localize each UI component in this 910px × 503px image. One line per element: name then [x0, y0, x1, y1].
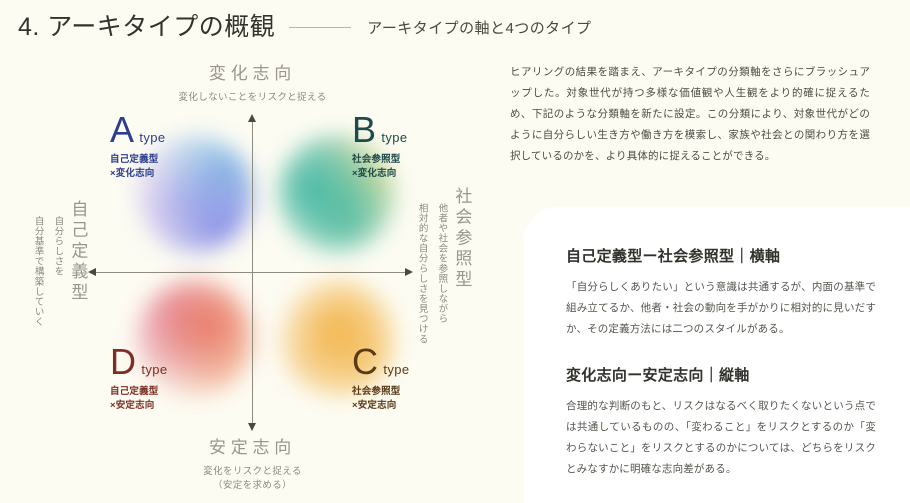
- axis-sublabel-bottom-line2: （安定を求める）: [0, 479, 505, 493]
- axis-explanation-card: 自己定義型ー社会参照型｜横軸 「自分らしくありたい」という意識は共通するが、内面…: [524, 207, 910, 503]
- quadrant-label-a: A type 自己定義型 ×変化志向: [110, 112, 166, 181]
- quadrant-b-desc-line1: 社会参照型: [352, 153, 408, 167]
- quadrant-d-letter-row: D type: [110, 344, 168, 380]
- axis-sublabel-left-line2: 自分基準で構築していく: [30, 216, 46, 368]
- quadrant-b-letter-row: B type: [352, 112, 408, 148]
- axis-sublabel-left-line1: 自分らしさを: [50, 216, 66, 368]
- archetype-matrix: 変化志向 変化しないことをリスクと捉える 安定志向 変化をリスクと捉える （安定…: [0, 55, 505, 495]
- quadrant-label-d: D type 自己定義型 ×安定志向: [110, 344, 168, 413]
- slide-header: 4. アーキタイプの概観 アーキタイプの軸と4つのタイプ: [18, 14, 592, 42]
- quadrant-d-desc-line2: ×安定志向: [110, 399, 168, 413]
- quadrant-c-desc-line1: 社会参照型: [352, 385, 410, 399]
- page-subtitle: アーキタイプの軸と4つのタイプ: [367, 17, 591, 38]
- quadrant-d-desc-line1: 自己定義型: [110, 385, 168, 399]
- quadrant-c-type: type: [383, 362, 409, 377]
- axis-caption-right: 社会参照型 他者や社会を参照しながら 相対的な自分らしさを見つける: [414, 187, 470, 355]
- card-section-vertical-axis: 変化志向ー安定志向｜縦軸 合理的な判断のもと、リスクはなるべく取りたくないという…: [566, 364, 876, 480]
- intro-paragraph: ヒアリングの結果を踏まえ、アーキタイプの分類軸をさらにブラッシュアップした。対象…: [510, 62, 870, 167]
- quadrant-b-letter: B: [352, 112, 376, 148]
- card-heading-vertical-axis: 変化志向ー安定志向｜縦軸: [566, 364, 876, 385]
- quadrant-d-letter: D: [110, 344, 136, 380]
- quadrant-d-desc: 自己定義型 ×安定志向: [110, 385, 168, 413]
- slide-root: 4. アーキタイプの概観 アーキタイプの軸と4つのタイプ 変化志向 変化しないこ…: [0, 0, 910, 503]
- axis-sublabel-bottom-line1: 変化をリスクと捉える: [0, 465, 505, 479]
- quadrant-label-b: B type 社会参照型 ×変化志向: [352, 112, 408, 181]
- quadrant-a-desc-line2: ×変化志向: [110, 167, 166, 181]
- card-section-horizontal-axis: 自己定義型ー社会参照型｜横軸 「自分らしくありたい」という意識は共通するが、内面…: [566, 245, 876, 340]
- card-body-horizontal-axis: 「自分らしくありたい」という意識は共通するが、内面の基準で組み立てるか、他者・社…: [566, 277, 876, 340]
- horizontal-axis-line: [95, 272, 411, 273]
- axis-caption-top: 変化志向 変化しないことをリスクと捉える: [0, 59, 505, 105]
- quadrant-b-desc: 社会参照型 ×変化志向: [352, 153, 408, 181]
- axis-label-right: 社会参照型: [453, 187, 470, 291]
- arrow-down-icon: [248, 423, 256, 431]
- quadrant-a-type: type: [139, 130, 165, 145]
- axis-label-left: 自己定義型: [69, 200, 86, 304]
- page-title: 4. アーキタイプの概観: [18, 14, 275, 42]
- axis-sublabel-bottom: 変化をリスクと捉える （安定を求める）: [0, 465, 505, 494]
- quadrant-c-letter: C: [352, 344, 378, 380]
- arrow-left-icon: [88, 268, 96, 276]
- quadrant-d-type: type: [141, 362, 167, 377]
- quadrant-a-letter: A: [110, 112, 134, 148]
- quadrant-c-desc-line2: ×安定志向: [352, 399, 410, 413]
- axis-caption-left: 自己定義型 自分らしさを 自分基準で構築していく: [30, 200, 86, 368]
- card-heading-horizontal-axis: 自己定義型ー社会参照型｜横軸: [566, 245, 876, 266]
- arrow-up-icon: [248, 114, 256, 122]
- header-divider-rule: [289, 27, 351, 28]
- arrow-right-icon: [405, 268, 413, 276]
- quadrant-a-desc: 自己定義型 ×変化志向: [110, 153, 166, 181]
- quadrant-c-desc: 社会参照型 ×安定志向: [352, 385, 410, 413]
- axis-sublabel-right-line1: 他者や社会を参照しながら: [434, 203, 450, 355]
- quadrant-b-desc-line2: ×変化志向: [352, 167, 408, 181]
- quadrant-a-desc-line1: 自己定義型: [110, 153, 166, 167]
- card-body-vertical-axis: 合理的な判断のもと、リスクはなるべく取りたくないという点では共通しているものの、…: [566, 396, 876, 480]
- axis-sublabel-right-line2: 相対的な自分らしさを見つける: [414, 203, 430, 355]
- axis-label-top: 変化志向: [0, 59, 505, 84]
- quadrant-label-c: C type 社会参照型 ×安定志向: [352, 344, 410, 413]
- axis-label-bottom: 安定志向: [0, 433, 505, 458]
- quadrant-c-letter-row: C type: [352, 344, 410, 380]
- vertical-axis-line: [252, 120, 253, 430]
- quadrant-b-type: type: [381, 130, 407, 145]
- quadrant-a-letter-row: A type: [110, 112, 166, 148]
- axis-caption-bottom: 安定志向 変化をリスクと捉える （安定を求める）: [0, 433, 505, 494]
- axis-sublabel-top: 変化しないことをリスクと捉える: [0, 91, 505, 105]
